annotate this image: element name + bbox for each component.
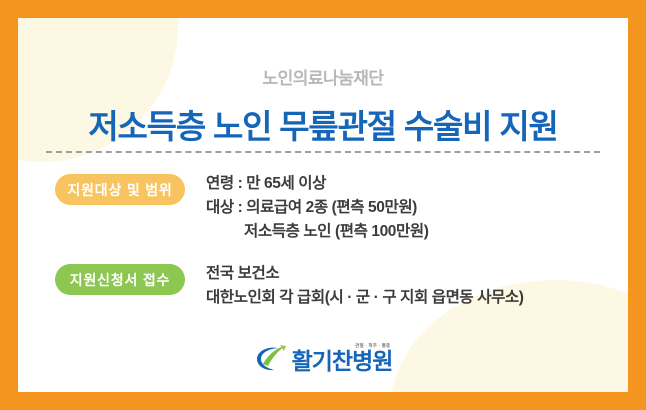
eligibility-line: 연령 : 만 65세 이상 — [206, 172, 429, 196]
application-details: 전국 보건소 대한노인회 각 급회(시 · 군 · 구 지회 읍면동 사무소) — [206, 262, 524, 310]
badge-application: 지원신청서 접수 — [55, 264, 185, 295]
eligibility-details: 연령 : 만 65세 이상 대상 : 의료급여 2종 (편측 50만원) 저소득… — [206, 172, 429, 244]
poster-card: 노인의료나눔재단 저소득층 노인 무릎관절 수술비 지원 지원대상 및 범위 연… — [18, 18, 628, 392]
section-application: 지원신청서 접수 전국 보건소 대한노인회 각 급회(시 · 군 · 구 지회 … — [55, 262, 524, 310]
poster-content: 노인의료나눔재단 저소득층 노인 무릎관절 수술비 지원 지원대상 및 범위 연… — [18, 18, 628, 392]
dashed-divider — [46, 151, 600, 153]
eligibility-line: 대상 : 의료급여 2종 (편측 50만원) — [206, 196, 429, 220]
poster-root: 노인의료나눔재단 저소득층 노인 무릎관절 수술비 지원 지원대상 및 범위 연… — [0, 0, 646, 410]
badge-eligibility: 지원대상 및 범위 — [55, 174, 185, 205]
logo-swoosh-icon — [254, 342, 288, 374]
application-line: 전국 보건소 — [206, 262, 524, 286]
logo-name: 활기찬병원 — [292, 350, 393, 373]
application-line: 대한노인회 각 급회(시 · 군 · 구 지회 읍면동 사무소) — [206, 286, 524, 310]
hospital-logo: 관절 · 척추 · 통증 활기찬병원 — [18, 342, 628, 374]
logo-text: 관절 · 척추 · 통증 활기찬병원 — [292, 343, 393, 373]
eligibility-line: 저소득층 노인 (편측 100만원) — [206, 220, 429, 244]
section-eligibility: 지원대상 및 범위 연령 : 만 65세 이상 대상 : 의료급여 2종 (편측… — [55, 172, 429, 244]
page-title: 저소득층 노인 무릎관절 수술비 지원 — [18, 100, 628, 148]
organization-name: 노인의료나눔재단 — [18, 64, 628, 89]
